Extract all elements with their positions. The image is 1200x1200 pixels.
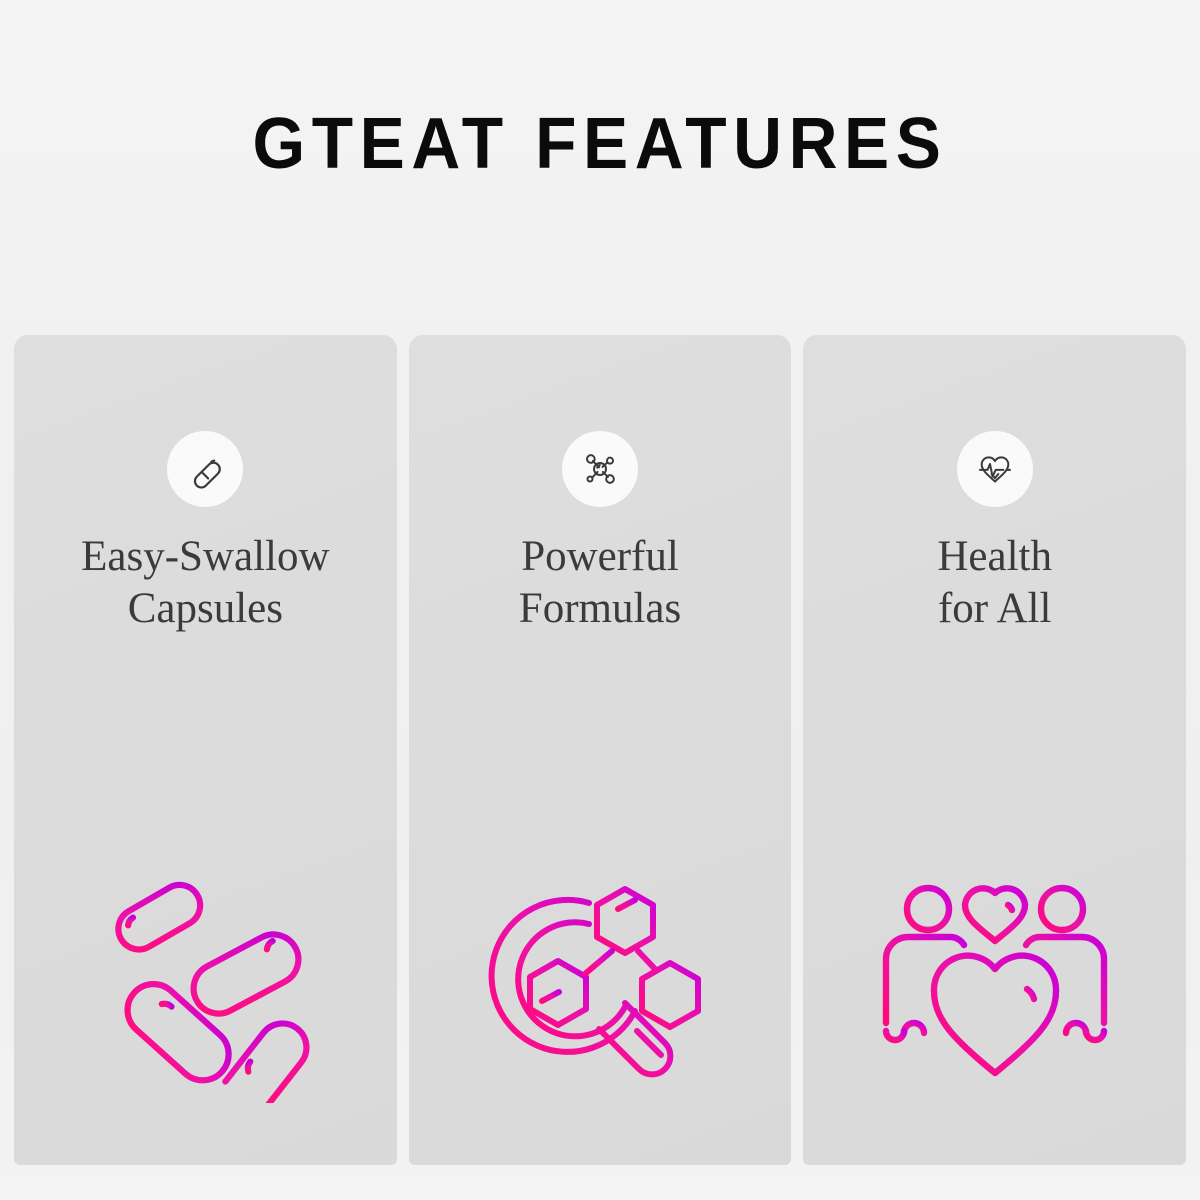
feature-card-health-for-all[interactable]: Health for All	[803, 335, 1186, 1165]
capsule-icon-badge	[167, 431, 243, 507]
page-title: GTEAT FEATURES	[36, 108, 1164, 180]
feature-card-row: Easy-Swallow Capsules	[14, 335, 1186, 1165]
heart-pulse-icon	[975, 449, 1015, 489]
pills-capsules-illustration	[90, 873, 320, 1103]
molecule-icon-badge	[562, 431, 638, 507]
heart-pulse-icon-badge	[957, 431, 1033, 507]
feature-card-title: Health for All	[803, 531, 1186, 636]
feature-card-easy-swallow-capsules[interactable]: Easy-Swallow Capsules	[14, 335, 397, 1165]
pills-capsules-svg	[90, 873, 320, 1103]
molecule-icon	[580, 449, 620, 489]
feature-card-title: Easy-Swallow Capsules	[14, 531, 397, 636]
magnifier-molecule-svg	[485, 873, 715, 1103]
people-hearts-illustration	[880, 873, 1110, 1103]
capsule-icon	[185, 449, 225, 489]
feature-card-title: Powerful Formulas	[409, 531, 792, 636]
magnifier-molecule-illustration	[485, 873, 715, 1103]
people-hearts-svg	[880, 873, 1110, 1103]
feature-card-powerful-formulas[interactable]: Powerful Formulas	[409, 335, 792, 1165]
